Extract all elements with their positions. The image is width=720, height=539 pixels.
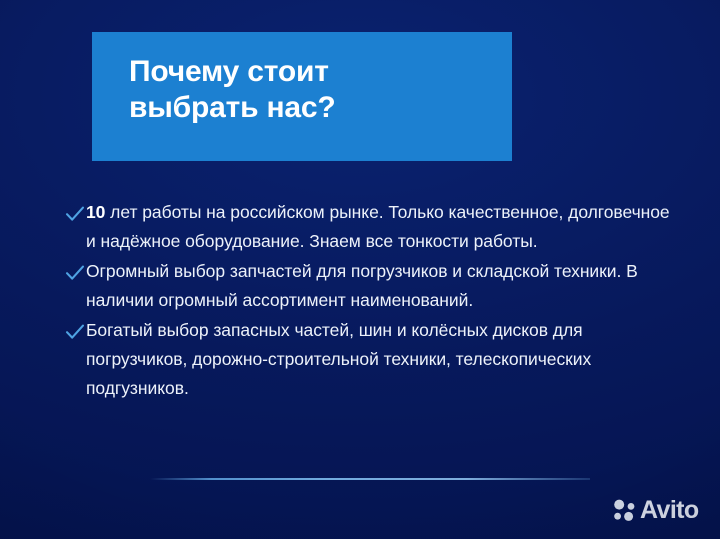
list-item: 10 лет работы на российском рынке. Тольк… <box>64 198 674 256</box>
list-item-body: Богатый выбор запасных частей, шин и кол… <box>86 320 591 398</box>
avito-watermark: Avito <box>612 498 699 522</box>
list-item-text: Богатый выбор запасных частей, шин и кол… <box>86 316 674 403</box>
list-item-lead: 10 <box>86 202 105 222</box>
list-item: Богатый выбор запасных частей, шин и кол… <box>64 316 674 403</box>
check-icon <box>64 201 86 227</box>
list-item-body: лет работы на российском рынке. Только к… <box>86 202 670 251</box>
avito-wordmark: Avito <box>640 498 699 522</box>
list-item-text: Огромный выбор запчастей для погрузчиков… <box>86 257 674 315</box>
avito-dots-icon <box>612 498 638 522</box>
list-item: Огромный выбор запчастей для погрузчиков… <box>64 257 674 315</box>
divider <box>150 478 590 480</box>
benefits-list: 10 лет работы на российском рынке. Тольк… <box>64 198 674 404</box>
slide-canvas: Почему стоит выбрать нас? 10 лет работы … <box>0 0 720 539</box>
list-item-text: 10 лет работы на российском рынке. Тольк… <box>86 198 674 256</box>
page-title-line-2: выбрать нас? <box>129 90 512 126</box>
check-icon <box>64 260 86 286</box>
title-banner: Почему стоит выбрать нас? <box>92 32 512 161</box>
page-title-line-1: Почему стоит <box>129 54 512 90</box>
list-item-body: Огромный выбор запчастей для погрузчиков… <box>86 261 638 310</box>
check-icon <box>64 319 86 345</box>
